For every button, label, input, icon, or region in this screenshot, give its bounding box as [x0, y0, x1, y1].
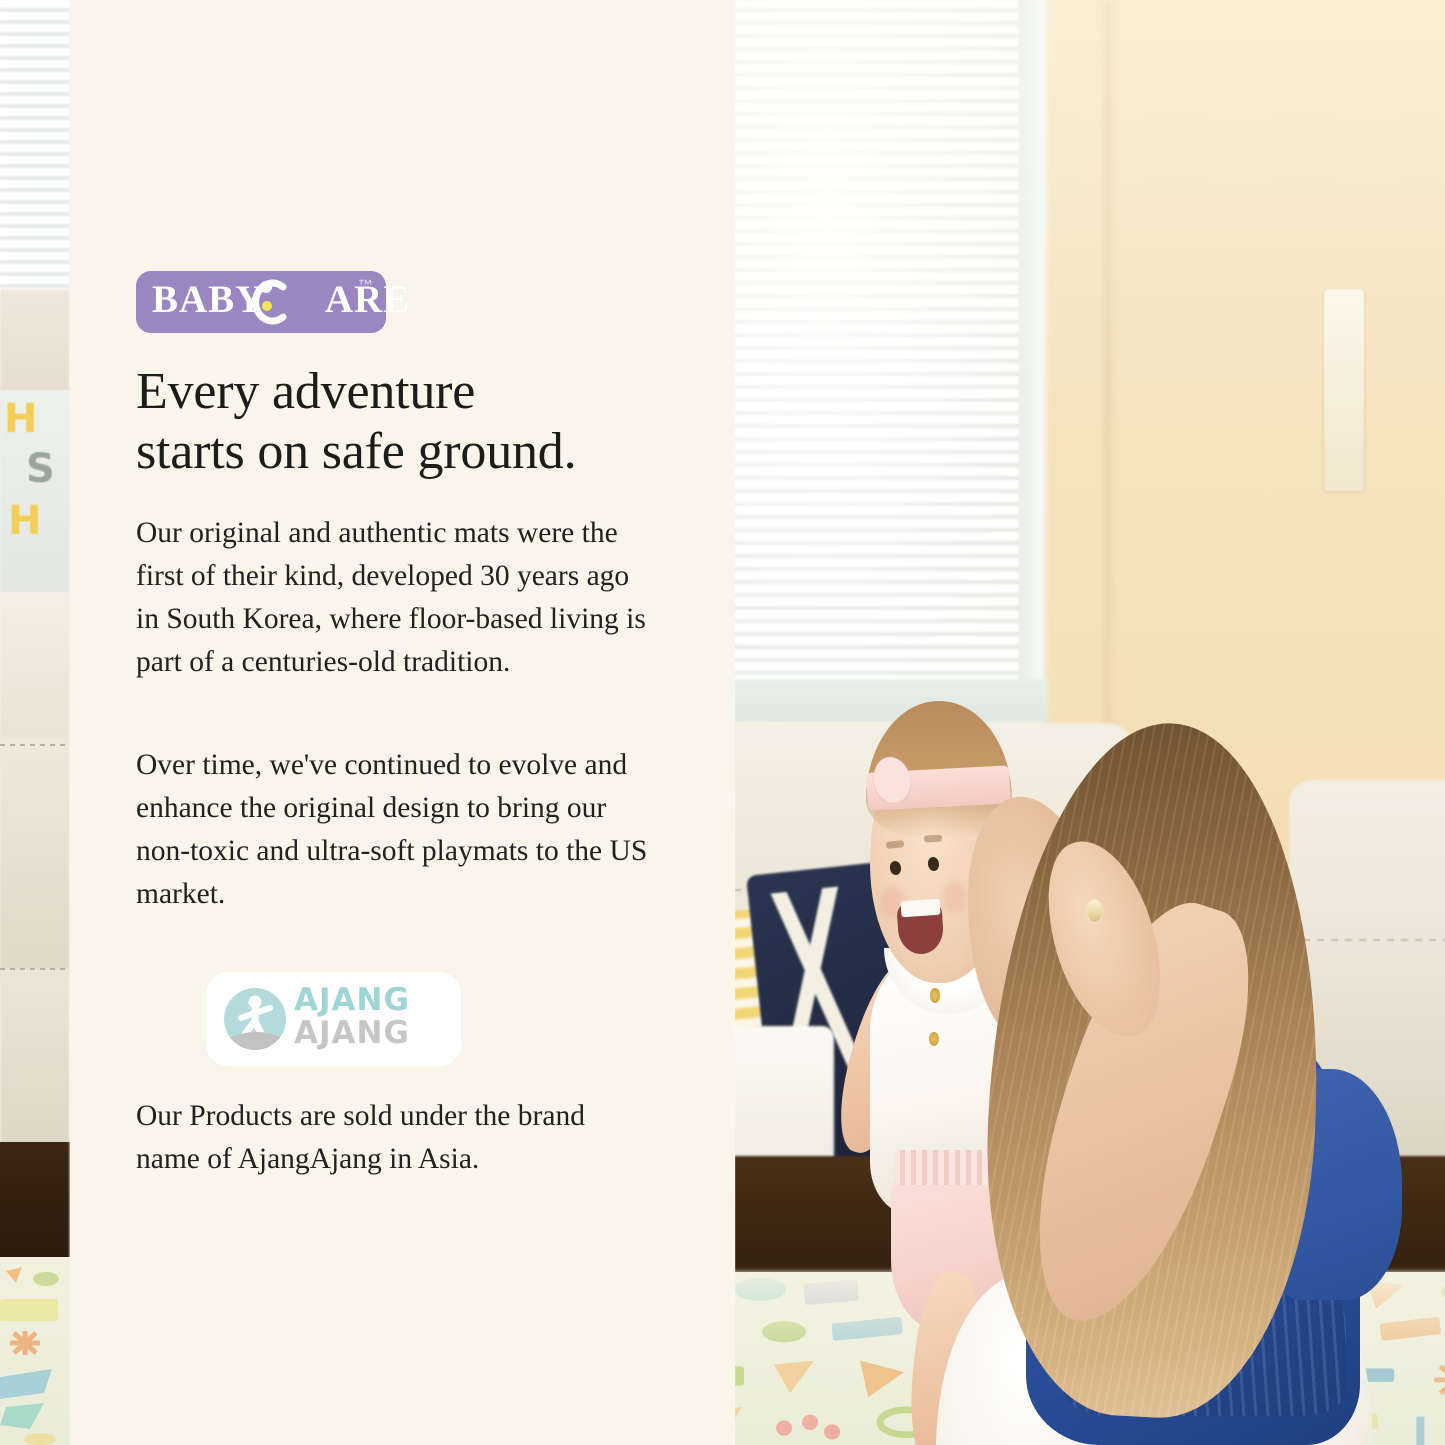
sofa-base-sliver	[0, 968, 70, 1156]
playmat-shapes-sliver	[0, 1257, 70, 1445]
playmat-sliver	[0, 1257, 70, 1445]
paragraph-evolution: Over time, we've continued to evolve and…	[136, 744, 656, 916]
ajangajang-wordmark: AJANG AJANG	[294, 984, 410, 1050]
panel-left-seam	[68, 0, 71, 1445]
pillow-letter-s: S	[26, 446, 55, 492]
text-panel: BABY_ARE ™ Every adventure starts on saf…	[70, 0, 735, 1445]
page-title: Every adventure starts on safe ground.	[136, 362, 716, 483]
baby-head-dot-icon	[260, 281, 272, 293]
photo-light-haze	[735, 0, 1445, 1445]
sofa-stitching-sliver	[0, 744, 70, 746]
sofa-stitching-lower-sliver	[0, 968, 70, 970]
headline-line-1: Every adventure	[136, 362, 716, 422]
wood-floor-sliver	[0, 1142, 70, 1272]
window-blinds-sliver	[0, 0, 70, 303]
ajangajang-icon-circle	[224, 988, 286, 1050]
pillow-letter-h1: H	[4, 396, 37, 442]
lettered-pillow-sliver: H S H	[0, 390, 70, 607]
paragraph-brand-note: Our Products are sold under the brand na…	[136, 1095, 656, 1181]
ajangajang-logo: AJANG AJANG	[206, 972, 461, 1066]
hero-photo	[735, 0, 1445, 1445]
baby-body-dot-icon	[262, 301, 272, 311]
paragraph-origin: Our original and authentic mats were the…	[136, 512, 656, 684]
ad-creative: H S H	[0, 0, 1445, 1445]
ajangajang-word-line-1: AJANG	[294, 984, 410, 1017]
headline-line-2: starts on safe ground.	[136, 422, 716, 482]
panel-photo-seam	[733, 0, 736, 1445]
ajangajang-word-line-2: AJANG	[294, 1017, 410, 1050]
trademark-symbol: ™	[358, 277, 373, 294]
baby-care-logo: BABY_ARE ™	[136, 271, 386, 333]
photo-left-strip: H S H	[0, 0, 70, 1445]
baby-care-c-monogram	[247, 279, 289, 325]
sofa-cushion-sliver	[0, 737, 70, 983]
pillow-letter-h2: H	[8, 498, 41, 544]
